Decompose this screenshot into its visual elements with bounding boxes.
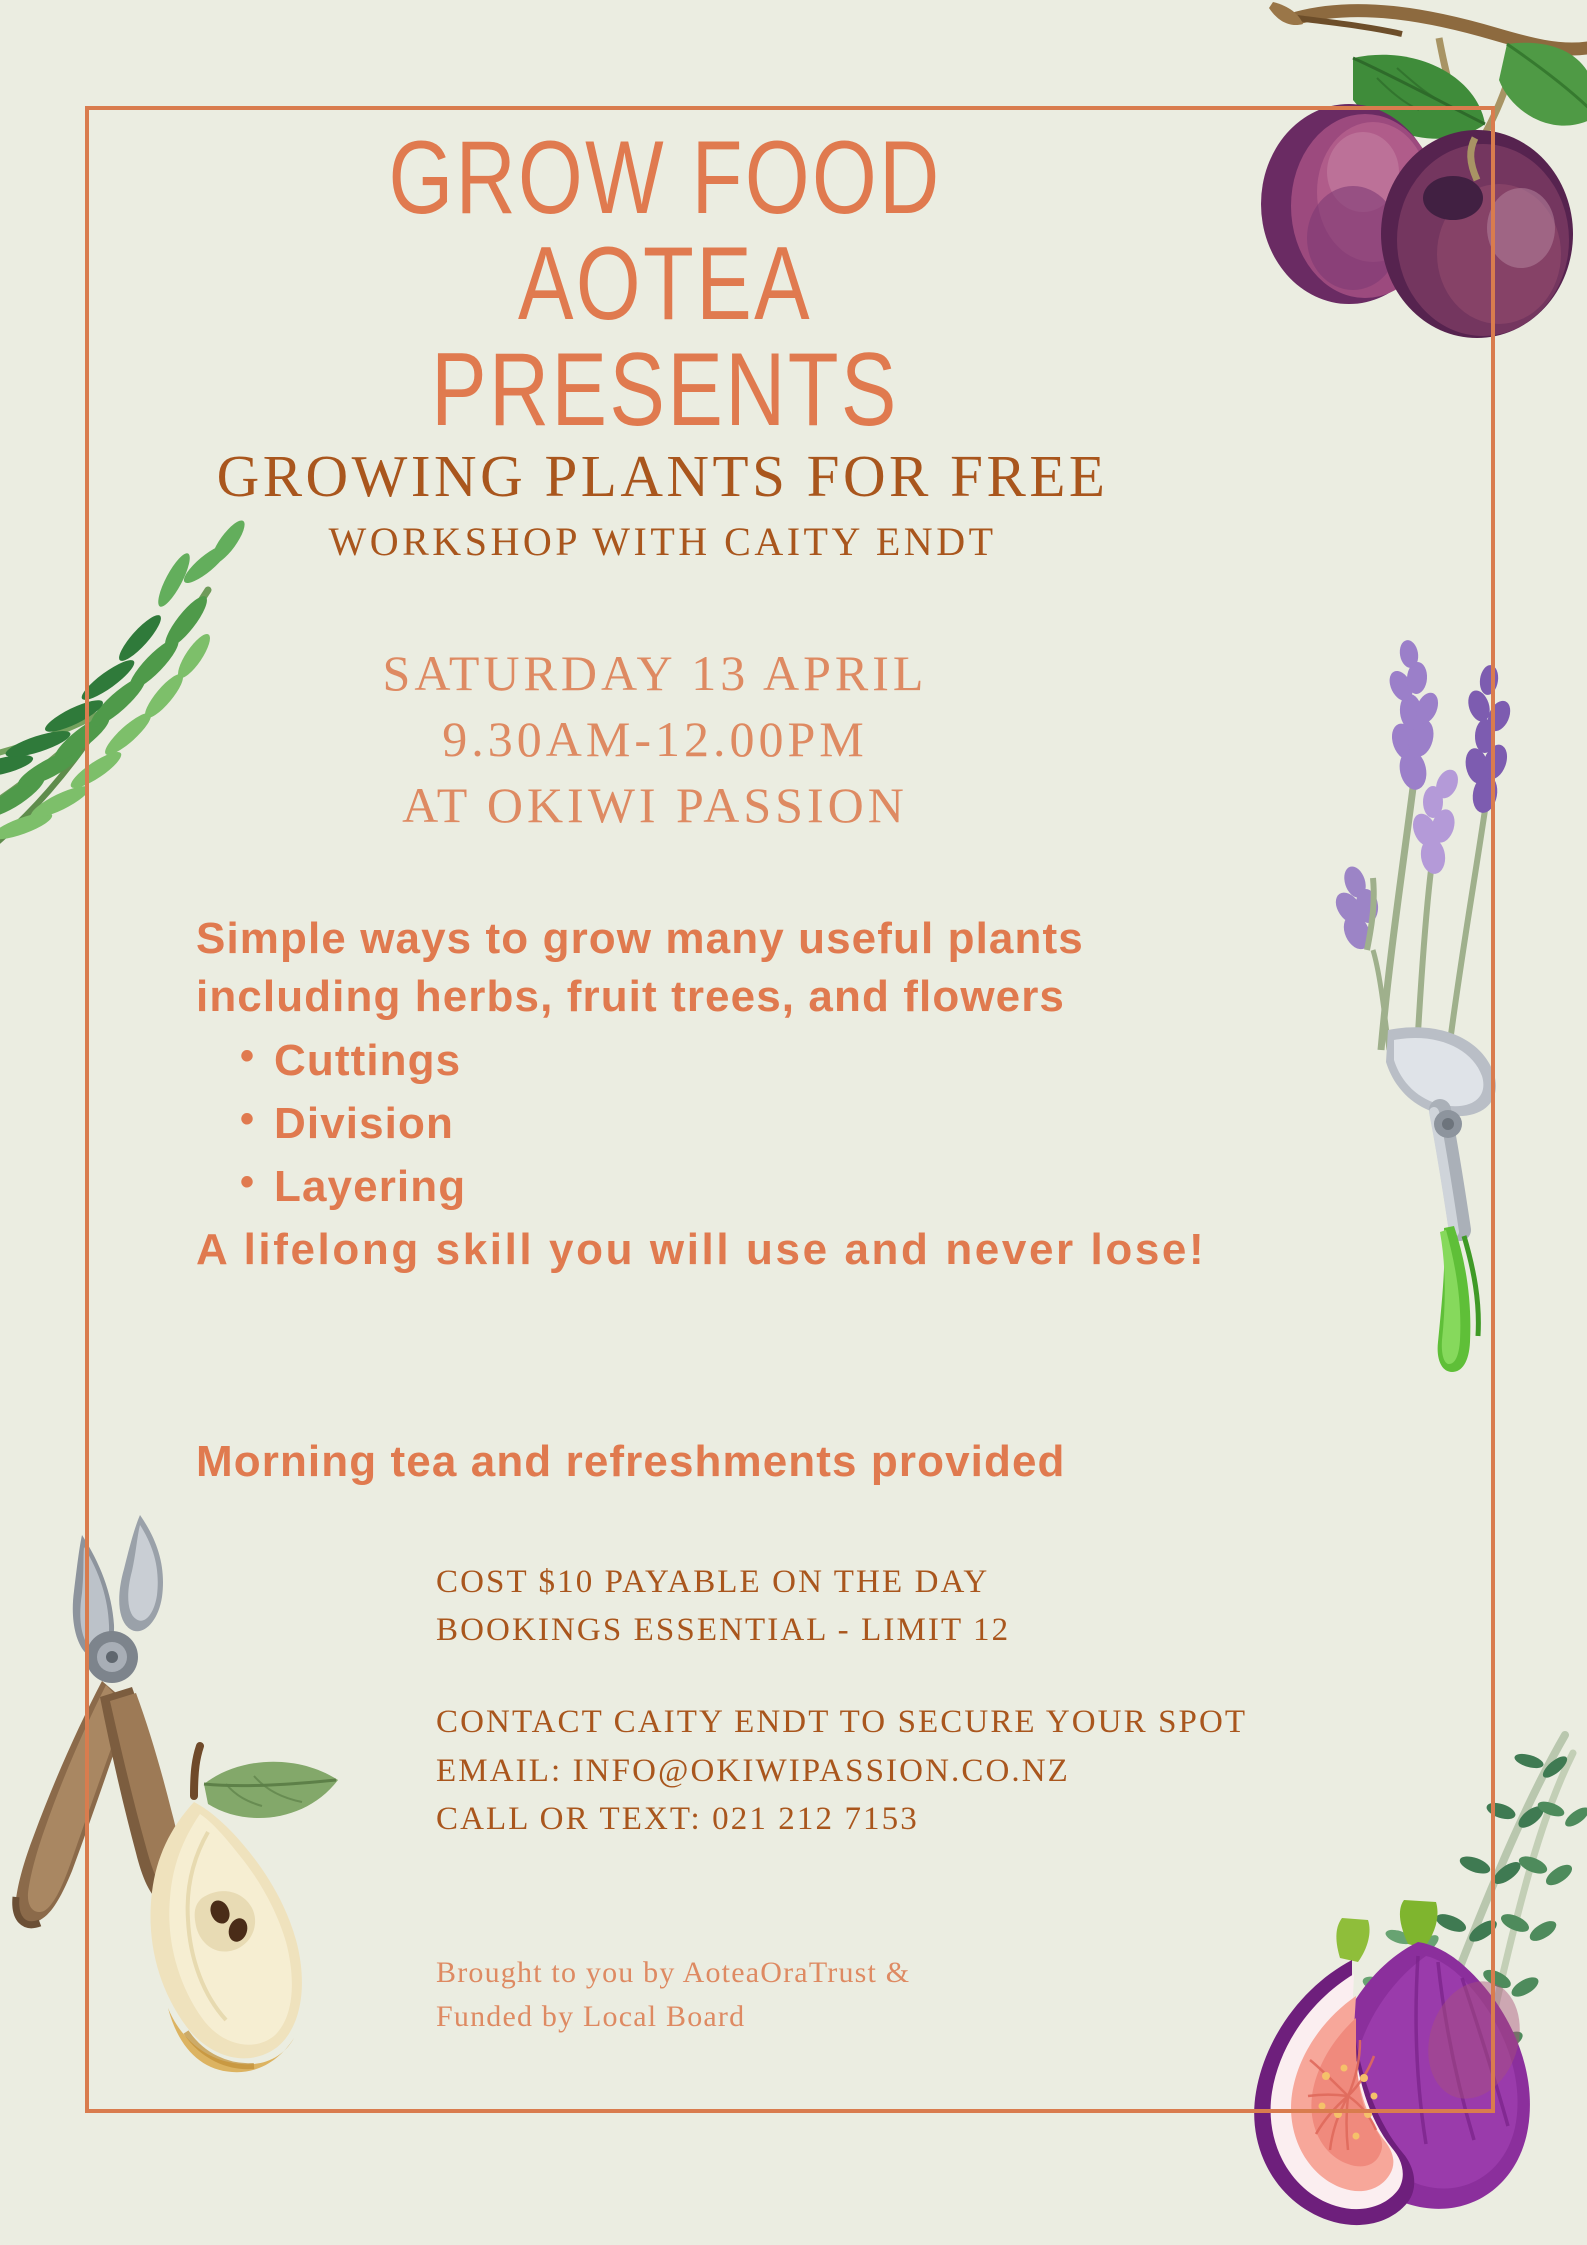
- event-location: AT OKIWI PASSION: [150, 772, 1160, 838]
- list-item: Division: [240, 1093, 1406, 1156]
- poster: GROW FOOD AOTEA PRESENTS GROWING PLANTS …: [0, 0, 1587, 2245]
- bookings-line: BOOKINGS ESSENTIAL - LIMIT 12: [436, 1606, 1496, 1654]
- list-item: Layering: [240, 1156, 1406, 1219]
- event-time: 9.30AM-12.00PM: [150, 706, 1160, 772]
- headline-line-1: GROW FOOD AOTEA: [388, 120, 941, 342]
- subtitle-block: GROWING PLANTS FOR FREE WORKSHOP WITH CA…: [90, 445, 1235, 567]
- event-when-where: SATURDAY 13 APRIL 9.30AM-12.00PM AT OKIW…: [150, 640, 1160, 838]
- description-line-1: Simple ways to grow many useful plants: [196, 910, 1406, 968]
- phone-line: CALL OR TEXT: 021 212 7153: [436, 1795, 1496, 1843]
- description-block: Simple ways to grow many useful plants i…: [196, 910, 1406, 1279]
- email-line: EMAIL: INFO@OKIWIPASSION.CO.NZ: [436, 1747, 1496, 1795]
- workshop-presenter: WORKSHOP WITH CAITY ENDT: [90, 517, 1235, 567]
- credits-line-1: Brought to you by AoteaOraTrust &: [436, 1951, 1436, 1995]
- poster-content: GROW FOOD AOTEA PRESENTS GROWING PLANTS …: [0, 0, 1587, 2245]
- credits-block: Brought to you by AoteaOraTrust & Funded…: [436, 1951, 1436, 2038]
- topics-list: Cuttings Division Layering: [196, 1030, 1406, 1219]
- details-spacer: [436, 1654, 1496, 1698]
- headline-line-2: PRESENTS: [237, 337, 1093, 443]
- list-item: Cuttings: [240, 1030, 1406, 1093]
- event-date: SATURDAY 13 APRIL: [150, 640, 1160, 706]
- workshop-title: GROWING PLANTS FOR FREE: [90, 445, 1235, 509]
- contact-line: CONTACT CAITY ENDT TO SECURE YOUR SPOT: [436, 1698, 1496, 1746]
- description-line-2: including herbs, fruit trees, and flower…: [196, 968, 1406, 1026]
- credits-line-2: Funded by Local Board: [436, 1995, 1436, 2039]
- booking-details: COST $10 PAYABLE ON THE DAY BOOKINGS ESS…: [436, 1558, 1496, 1843]
- page-title: GROW FOOD AOTEA PRESENTS: [237, 125, 1093, 443]
- cost-line: COST $10 PAYABLE ON THE DAY: [436, 1558, 1496, 1606]
- refreshments-note: Morning tea and refreshments provided: [196, 1437, 1406, 1487]
- closing-statement: A lifelong skill you will use and never …: [196, 1221, 1406, 1279]
